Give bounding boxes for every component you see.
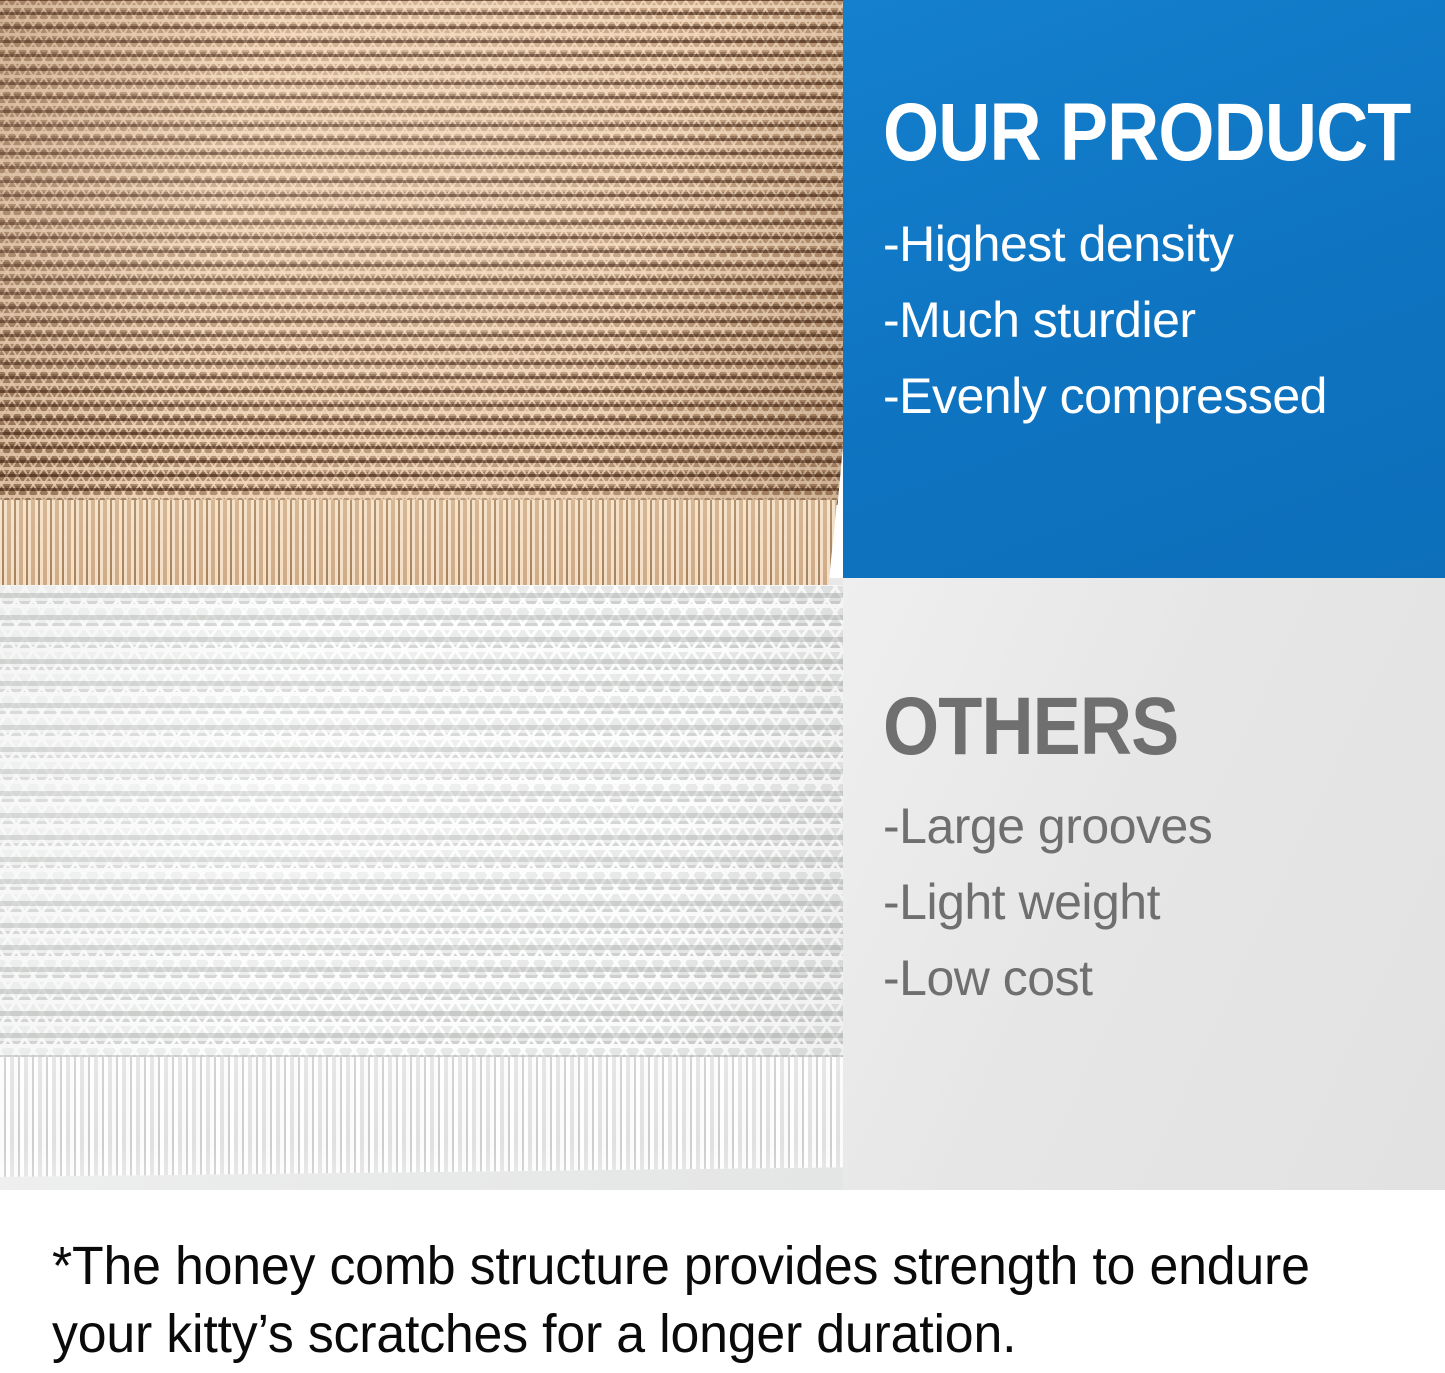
- our-product-heading: OUR PRODUCT: [883, 92, 1411, 174]
- infographic-root: OUR PRODUCT -Highest density -Much sturd…: [0, 0, 1445, 1373]
- our-product-text-block: OUR PRODUCT -Highest density -Much sturd…: [883, 0, 1443, 578]
- others-text-block: OTHERS -Large grooves -Light weight -Low…: [883, 578, 1443, 1190]
- white-honeycomb-slab-photo: [0, 585, 900, 1190]
- white-slab-side-edge: [0, 1057, 900, 1182]
- caption-line-2: your kitty’s scratches for a longer dura…: [52, 1300, 1358, 1368]
- others-bullet-3: -Low cost: [883, 940, 1443, 1016]
- white-slab-shading: [0, 585, 900, 1070]
- caption-line-1: *The honey comb structure provides stren…: [52, 1232, 1358, 1300]
- our-product-bullet-3: -Evenly compressed: [883, 358, 1443, 434]
- our-product-bullet-1: -Highest density: [883, 206, 1443, 282]
- others-bullet-list: -Large grooves -Light weight -Low cost: [883, 788, 1443, 1016]
- others-heading: OTHERS: [883, 686, 1178, 768]
- white-slab-top-face: [0, 585, 900, 1070]
- others-bullet-1: -Large grooves: [883, 788, 1443, 864]
- others-bullet-2: -Light weight: [883, 864, 1443, 940]
- brown-slab-shading: [0, 0, 850, 505]
- brown-honeycomb-slab-photo: [0, 0, 850, 620]
- brown-slab-top-face: [0, 0, 850, 505]
- our-product-bullet-list: -Highest density -Much sturdier -Evenly …: [883, 206, 1443, 434]
- footnote-caption: *The honey comb structure provides stren…: [52, 1232, 1358, 1368]
- our-product-bullet-2: -Much sturdier: [883, 282, 1443, 358]
